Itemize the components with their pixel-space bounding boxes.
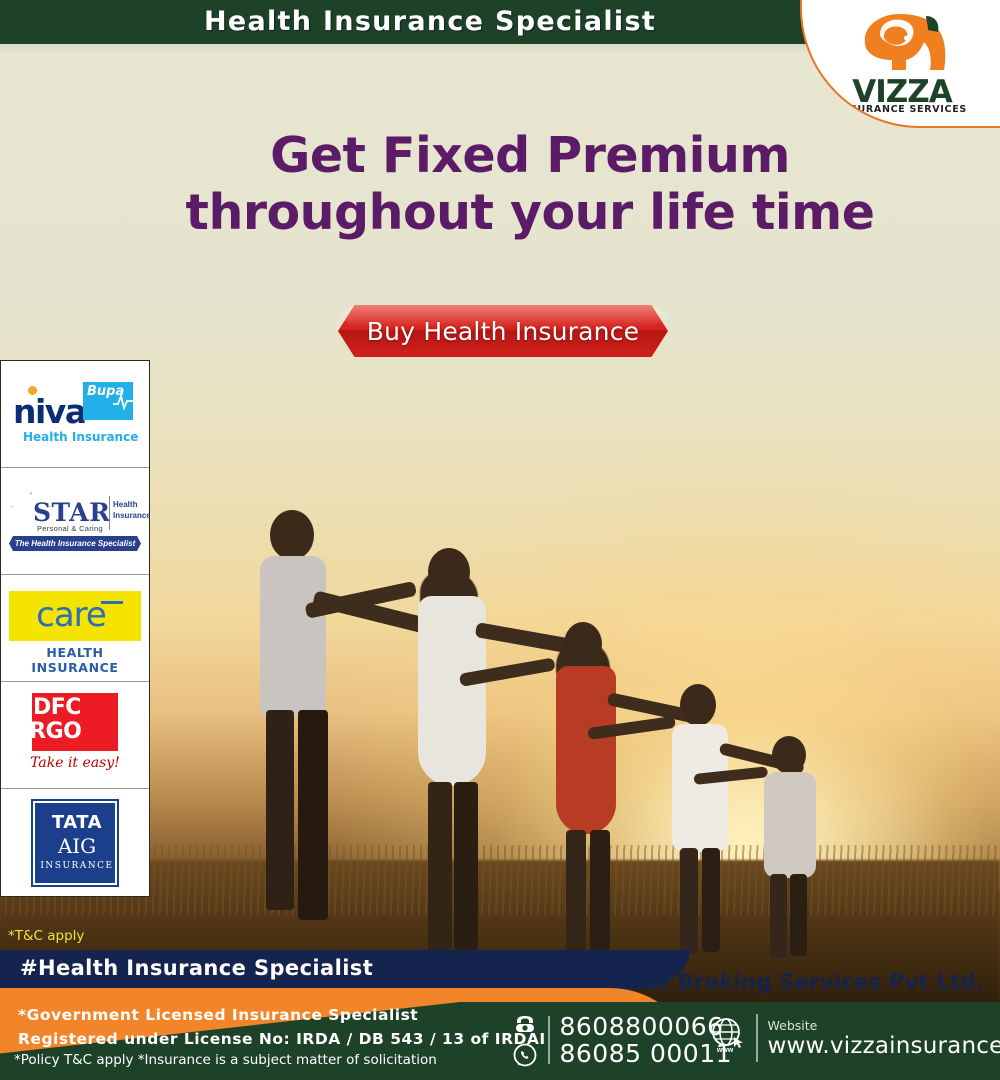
disclaimer-line-1: *Government Licensed Insurance Specialis… <box>18 1006 418 1024</box>
headline-line-2: throughout your life time <box>150 185 910 242</box>
tata-wordmark: TATA <box>35 812 119 833</box>
whatsapp-number[interactable]: 86085 00011 <box>560 1040 733 1067</box>
globe-icon <box>710 1017 744 1049</box>
niva-wordmark: niva <box>13 392 86 431</box>
care-subtitle: HEALTH INSURANCE <box>5 645 145 675</box>
star-tagline: Personal & Caring <box>37 524 103 533</box>
hashtag-label: #Health Insurance Specialist <box>20 956 373 980</box>
whatsapp-icon <box>512 1042 538 1068</box>
star-ribbon: The Health Insurance Specialist <box>9 536 141 551</box>
contact-phone-block[interactable]: 8608800066 86085 00011 <box>512 1012 732 1068</box>
star-wordmark: STAR <box>33 498 110 527</box>
silhouette-mother <box>398 548 518 948</box>
contact-website-block[interactable]: www Website www.vizzainsurance.com <box>710 1014 1000 1062</box>
tata-category: INSURANCE <box>35 861 119 871</box>
tc-apply-note: *T&C apply <box>8 928 84 944</box>
insurer-logo-care-health[interactable]: care HEALTH INSURANCE <box>1 575 149 682</box>
website-divider <box>756 1014 758 1062</box>
disclaimer-line-2: Registered under License No: IRDA / DB 5… <box>18 1030 546 1048</box>
star-divider <box>109 496 110 530</box>
brand-subtitle: INSURANCE SERVICES <box>802 104 1000 115</box>
heartbeat-icon <box>113 392 135 410</box>
contact-divider <box>548 1016 550 1064</box>
insurer-logo-list: niva Bupa Health Insurance STAR Personal… <box>0 360 150 897</box>
insurer-logo-tata-aig[interactable]: TATA AIG INSURANCE <box>1 789 149 896</box>
globe-caption: www <box>708 1047 742 1054</box>
buy-health-insurance-button[interactable]: Buy Health Insurance <box>338 305 668 357</box>
website-label: Website <box>768 1018 1000 1033</box>
silhouette-child-red <box>538 622 646 952</box>
care-macron-icon <box>101 601 123 604</box>
disclaimer-line-3: *Policy T&C apply *Insurance is a subjec… <box>14 1052 437 1068</box>
star-category: HealthInsurance <box>113 500 149 522</box>
website-url[interactable]: www.vizzainsurance.com <box>768 1033 1000 1059</box>
page-title: Health Insurance Specialist <box>0 6 860 37</box>
hdfc-wordmark: HDFC <box>5 695 91 720</box>
insurer-logo-star-health[interactable]: STAR Personal & Caring HealthInsurance T… <box>1 468 149 575</box>
brand-logo-badge[interactable]: VIZZA INSURANCE SERVICES <box>800 0 1000 128</box>
cta-label: Buy Health Insurance <box>367 317 639 346</box>
aig-wordmark: AIG <box>35 834 119 858</box>
ergo-wordmark: ERGO <box>5 719 91 744</box>
silhouette-toddler <box>752 736 840 956</box>
niva-subtitle: Health Insurance <box>23 430 138 444</box>
headline-line-1: Get Fixed Premium <box>270 127 790 184</box>
advertisement-poster: Health Insurance Specialist VIZZA INSURA… <box>0 0 1000 1080</box>
elephant-icon <box>850 8 962 76</box>
telephone-icon <box>512 1012 538 1038</box>
phone-number[interactable]: 8608800066 <box>560 1013 733 1040</box>
silhouette-child-white <box>658 684 754 954</box>
tata-box: TATA AIG INSURANCE <box>33 801 117 885</box>
insurer-logo-niva-bupa[interactable]: niva Bupa Health Insurance <box>1 361 149 468</box>
silhouette-father <box>248 510 358 930</box>
hdfc-tagline: Take it easy! <box>5 755 145 771</box>
insurer-logo-hdfc-ergo[interactable]: HDFC ERGO Take it easy! <box>1 682 149 789</box>
headline: Get Fixed Premium throughout your life t… <box>150 128 910 242</box>
